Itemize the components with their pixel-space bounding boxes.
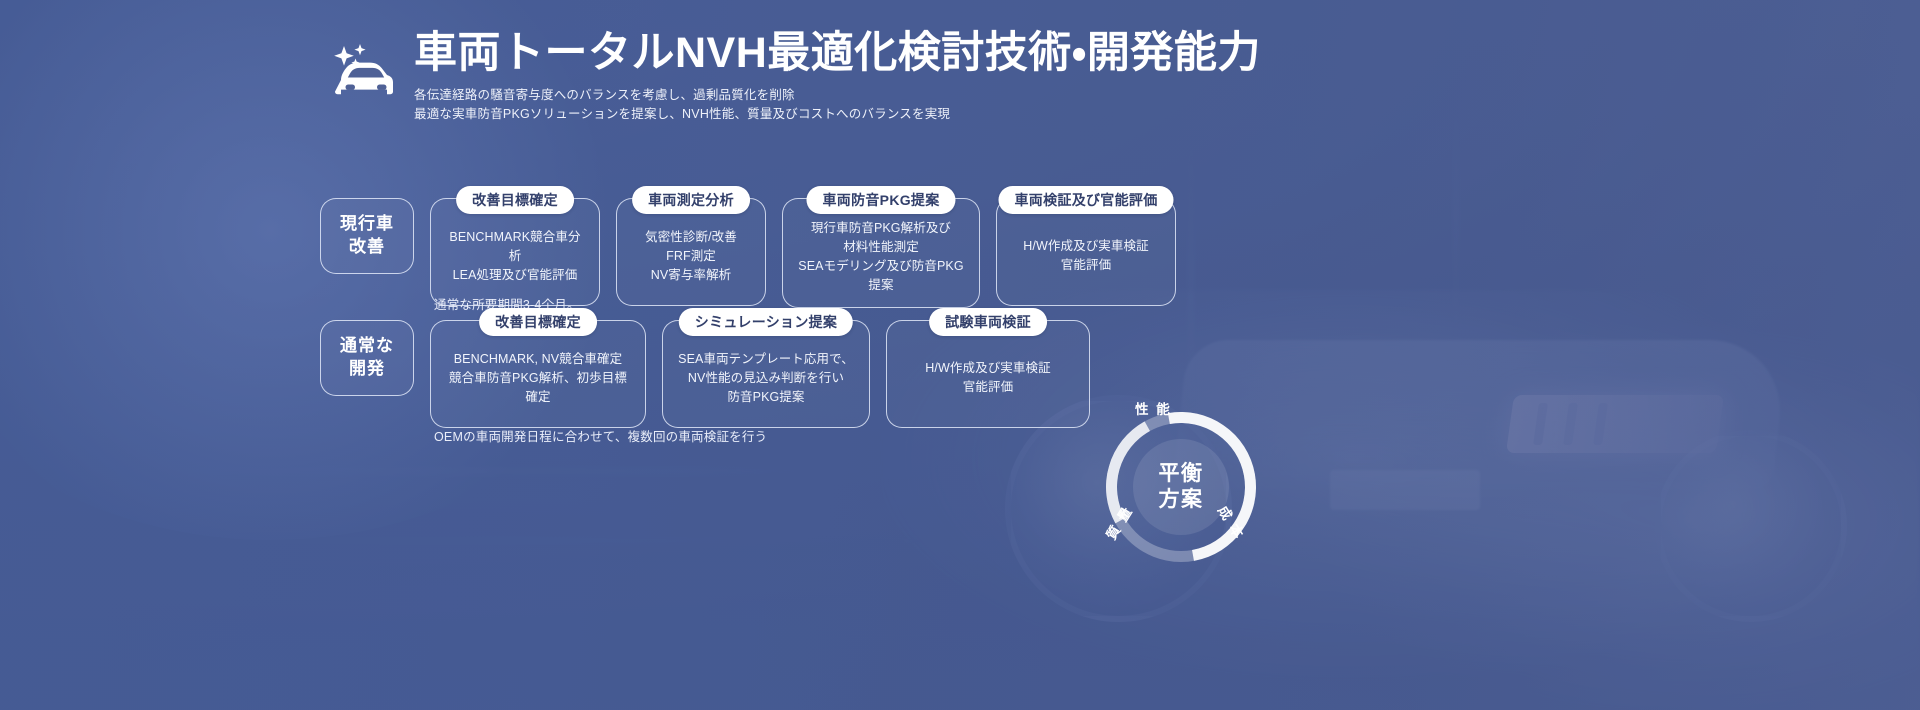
row-label-line-1: 現行車 — [340, 213, 394, 236]
process-step-card[interactable]: 試験車両検証 H/W作成及び実車検証 官能評価 — [886, 320, 1090, 428]
process-step-body: 現行車防音PKG解析及び 材料性能測定 SEAモデリング及び防音PKG提案 — [797, 219, 965, 295]
process-steps: 改善目標確定 BENCHMARK, NV競合車確定 競合車防音PKG解析、初歩目… — [414, 320, 1090, 428]
subtitle-line-1: 各伝達経路の騒音寄与度へのバランスを考慮し、過剰品質化を削除 — [414, 86, 1261, 105]
sparkle-car-icon — [330, 42, 402, 112]
process-step-header: 試験車両検証 — [929, 308, 1047, 336]
row-label-current-vehicle: 現行車 改善 — [320, 198, 414, 274]
process-step-header: 車両防音PKG提案 — [806, 186, 955, 214]
badge-center-line-2: 方案 — [1159, 487, 1204, 513]
subtitle-line-2: 最適な実車防音PKGソリューションを提案し、NVH性能、質量及びコストへのバラン… — [414, 105, 1261, 124]
badge-center-label: 平衡 方案 — [1133, 439, 1229, 535]
process-step-body: BENCHMARK, NV競合車確定 競合車防音PKG解析、初歩目標確定 — [445, 350, 631, 407]
process-row-normal-development: 通常な 開発 改善目標確定 BENCHMARK, NV競合車確定 競合車防音PK… — [320, 320, 1090, 428]
process-steps: 改善目標確定 BENCHMARK競合車分析 LEA処理及び官能評価 車両測定分析… — [414, 198, 1176, 308]
balance-badge: 平衡 方案 性 能 質 量 成 本 — [1106, 412, 1256, 562]
badge-label-performance: 性 能 — [1135, 398, 1172, 418]
page-header: 車両トータルNVH最適化検討技術・開発能力 各伝達経路の騒音寄与度へのバランスを… — [330, 28, 1261, 124]
badge-center-line-1: 平衡 — [1159, 461, 1204, 487]
process-step-card[interactable]: 改善目標確定 BENCHMARK競合車分析 LEA処理及び官能評価 — [430, 198, 600, 306]
process-diagram: 現行車 改善 改善目標確定 BENCHMARK競合車分析 LEA処理及び官能評価… — [0, 190, 1920, 450]
process-step-card[interactable]: 車両測定分析 気密性診断/改善 FRF測定 NV寄与率解析 — [616, 198, 766, 306]
process-step-body: BENCHMARK競合車分析 LEA処理及び官能評価 — [445, 228, 585, 285]
process-step-body: H/W作成及び実車検証 官能評価 — [925, 359, 1050, 397]
process-step-card[interactable]: 車両検証及び官能評価 H/W作成及び実車検証 官能評価 — [996, 198, 1176, 306]
page-subtitle: 各伝達経路の騒音寄与度へのバランスを考慮し、過剰品質化を削除 最適な実車防音PK… — [414, 86, 1261, 125]
row-label-line-2: 開発 — [349, 358, 385, 381]
process-step-header: 車両測定分析 — [632, 186, 750, 214]
process-step-body: 気密性診断/改善 FRF測定 NV寄与率解析 — [645, 228, 737, 285]
process-step-header: 改善目標確定 — [456, 186, 574, 214]
process-step-card[interactable]: 改善目標確定 BENCHMARK, NV競合車確定 競合車防音PKG解析、初歩目… — [430, 320, 646, 428]
process-step-header: 改善目標確定 — [479, 308, 597, 336]
row-label-line-2: 改善 — [349, 236, 385, 259]
row-label-line-1: 通常な — [340, 335, 394, 358]
process-step-card[interactable]: 車両防音PKG提案 現行車防音PKG解析及び 材料性能測定 SEAモデリング及び… — [782, 198, 980, 308]
process-step-card[interactable]: シミュレーション提案 SEA車両テンプレート応用で、 NV性能の見込み判断を行い… — [662, 320, 870, 428]
process-step-header: シミュレーション提案 — [679, 308, 853, 336]
process-step-body: SEA車両テンプレート応用で、 NV性能の見込み判断を行い 防音PKG提案 — [678, 350, 854, 407]
process-step-body: H/W作成及び実車検証 官能評価 — [1023, 237, 1148, 275]
row-label-normal-development: 通常な 開発 — [320, 320, 414, 396]
row-note-normal-development: OEMの車両開発日程に合わせて、複数回の車両検証を行う — [434, 426, 767, 445]
process-row-current-vehicle: 現行車 改善 改善目標確定 BENCHMARK競合車分析 LEA処理及び官能評価… — [320, 198, 1176, 308]
process-step-header: 車両検証及び官能評価 — [999, 186, 1174, 214]
page-title: 車両トータルNVH最適化検討技術・開発能力 — [414, 28, 1261, 79]
